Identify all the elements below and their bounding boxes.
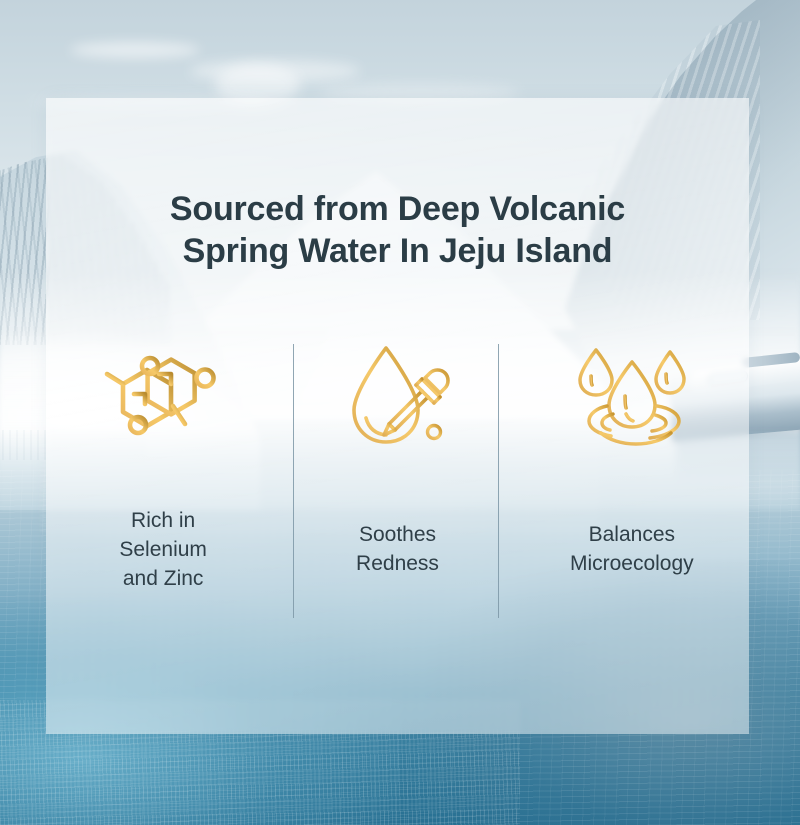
cloud <box>70 42 200 58</box>
feature-icon-wrapper <box>342 338 452 458</box>
caption-line: Microecology <box>570 549 694 578</box>
page-title: Sourced from Deep Volcanic Spring Water … <box>46 188 749 272</box>
caption-line: and Zinc <box>119 564 207 593</box>
droplet-dropper-icon <box>342 342 452 454</box>
feature-row: Rich in Selenium and Zinc <box>46 326 749 646</box>
headline-line-2: Spring Water In Jeju Island <box>46 230 749 272</box>
caption-line: Rich in <box>119 506 207 535</box>
feature-item-balances-microecology: Balances Microecology <box>515 326 749 646</box>
product-banner: Sourced from Deep Volcanic Spring Water … <box>0 0 800 825</box>
molecule-icon <box>101 346 226 450</box>
caption-line: Balances <box>570 520 694 549</box>
caption-line: Redness <box>356 549 439 578</box>
caption-line: Selenium <box>119 535 207 564</box>
headline-line-1: Sourced from Deep Volcanic <box>46 188 749 230</box>
caption-line: Soothes <box>356 520 439 549</box>
feature-item-soothes-redness: Soothes Redness <box>280 326 514 646</box>
feature-caption: Soothes Redness <box>356 520 439 578</box>
feature-caption: Balances Microecology <box>570 520 694 578</box>
feature-icon-wrapper <box>101 338 226 458</box>
feature-caption: Rich in Selenium and Zinc <box>119 506 207 593</box>
content-card: Sourced from Deep Volcanic Spring Water … <box>46 98 749 734</box>
droplets-ripple-icon <box>571 344 693 452</box>
feature-icon-wrapper <box>571 338 693 458</box>
feature-item-selenium-zinc: Rich in Selenium and Zinc <box>46 326 280 646</box>
